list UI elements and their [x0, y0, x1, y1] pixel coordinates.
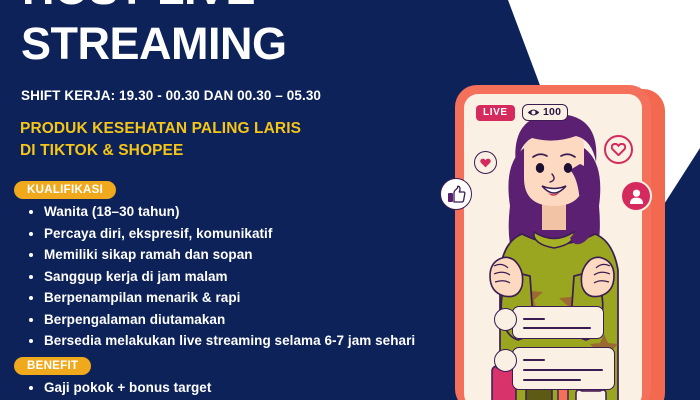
headline-main: STREAMING — [21, 21, 287, 66]
live-streaming-illustration: LIVE 100 — [455, 85, 670, 400]
list-item: Berpenampilan menarik & rapi — [24, 287, 415, 309]
tagline-line-2: DI TIKTOK & SHOPEE — [20, 140, 301, 162]
benefit-list: Gaji pokok + bonus target — [24, 377, 211, 399]
shift-schedule-text: SHIFT KERJA: 19.30 - 00.30 DAN 00.30 – 0… — [21, 88, 321, 103]
heart-icon — [480, 158, 491, 168]
live-badge: LIVE — [476, 105, 515, 121]
list-item: Bersedia melakukan live streaming selama… — [24, 330, 415, 352]
heart-reaction-small — [474, 151, 497, 174]
tagline: PRODUK KESEHATAN PALING LARIS DI TIKTOK … — [20, 118, 301, 162]
chat-bubble — [512, 347, 615, 390]
poster-text-content: HOST LIVE STREAMING SHIFT KERJA: 19.30 -… — [0, 0, 470, 400]
list-item: Sanggup kerja di jam malam — [24, 266, 415, 288]
heart-icon — [611, 143, 626, 156]
list-item: Berpengalaman diutamakan — [24, 309, 415, 331]
headline-top: HOST LIVE — [22, 0, 255, 11]
list-item: Percaya diri, ekspresif, komunikatif — [24, 223, 415, 245]
recruitment-poster: LIVE 100 — [0, 0, 700, 400]
chat-bubble — [512, 306, 604, 339]
list-item: Gaji pokok + bonus target — [24, 377, 211, 399]
list-item: Memiliki sikap ramah dan sopan — [24, 244, 415, 266]
chat-avatar — [494, 349, 517, 372]
user-icon — [628, 188, 645, 205]
viewer-count-value: 100 — [543, 106, 561, 118]
phone-screen: LIVE 100 — [464, 94, 642, 400]
list-item: Wanita (18–30 tahun) — [24, 201, 415, 223]
section-pill-kualifikasi: KUALIFIKASI — [14, 181, 116, 199]
heart-reaction-large — [604, 135, 633, 164]
section-pill-benefit: BENEFIT — [14, 357, 91, 375]
follower-reaction — [620, 180, 652, 212]
chat-avatar — [494, 308, 517, 331]
tagline-line-1: PRODUK KESEHATAN PALING LARIS — [20, 118, 301, 140]
viewer-count-badge: 100 — [522, 104, 568, 121]
kualifikasi-list: Wanita (18–30 tahun) Percaya diri, ekspr… — [24, 201, 415, 352]
eye-icon — [527, 108, 540, 117]
